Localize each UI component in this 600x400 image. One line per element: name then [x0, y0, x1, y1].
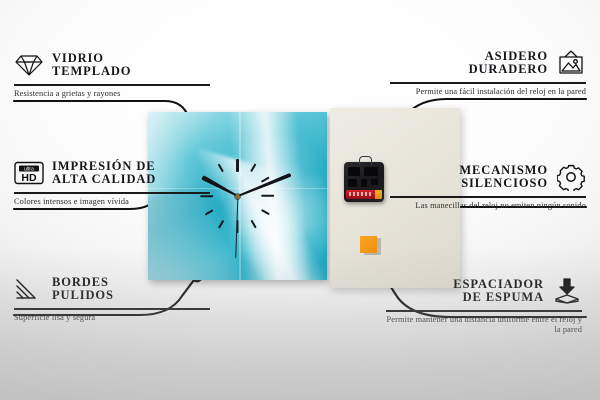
feature-description: Colores intensos e imagen vívida: [14, 197, 210, 207]
infographic-canvas: VIDRIO TEMPLADO Resistencia a grietas y …: [0, 0, 600, 400]
feature-title-line1: IMPRESIÓN DE: [52, 159, 156, 173]
foam-spacer: [360, 236, 377, 253]
polished-edges-icon: [14, 274, 44, 304]
gear-icon: [556, 162, 586, 192]
feature-bordes-pulidos: BORDES PULIDOS Superficie lisa y segura: [14, 274, 210, 323]
feature-divider: [390, 82, 586, 84]
feature-divider: [14, 308, 210, 310]
feature-title: ESPACIADOR DE ESPUMA: [453, 278, 544, 305]
feature-espaciador-de-espuma: ESPACIADOR DE ESPUMA Permite mantener un…: [386, 276, 582, 335]
feature-title-line2: DE ESPUMA: [453, 291, 544, 305]
battery: [346, 190, 382, 199]
diamond-icon: [14, 50, 44, 80]
feature-title: ASIDERO DURADERO: [469, 50, 548, 77]
feature-divider: [386, 310, 582, 312]
feature-title-line1: ASIDERO: [485, 49, 548, 63]
feature-title-line2: DURADERO: [469, 63, 548, 77]
feature-divider: [14, 192, 210, 194]
feature-description: Las manecillas del reloj no emiten ningú…: [390, 201, 586, 211]
quartz-movement: [344, 162, 384, 202]
feature-title-line2: PULIDOS: [52, 289, 114, 303]
feature-description: Resistencia a grietas y rayones: [14, 89, 210, 99]
ultra-hd-icon: ultra HD: [14, 158, 44, 188]
svg-text:HD: HD: [21, 172, 37, 184]
feature-title-line1: VIDRIO: [52, 51, 104, 65]
feature-title-line2: TEMPLADO: [52, 65, 131, 79]
feature-title-line2: ALTA CALIDAD: [52, 173, 156, 187]
feature-mecanismo-silencioso: MECANISMO SILENCIOSO Las manecillas del …: [390, 162, 586, 211]
feature-title: MECANISMO SILENCIOSO: [459, 164, 548, 191]
feature-title-line2: SILENCIOSO: [459, 177, 548, 191]
feature-title-line1: ESPACIADOR: [453, 277, 544, 291]
feature-title: BORDES PULIDOS: [52, 276, 114, 303]
clock-center-pivot: [235, 194, 240, 199]
feature-description: Permite una fácil instalación del reloj …: [390, 87, 586, 97]
feature-divider: [14, 84, 210, 86]
feature-description: Permite mantener una distancia uniforme …: [386, 315, 582, 336]
feature-title-line1: MECANISMO: [459, 163, 548, 177]
feature-vidrio-templado: VIDRIO TEMPLADO Resistencia a grietas y …: [14, 50, 210, 99]
feature-description: Superficie lisa y segura: [14, 313, 210, 323]
foam-spacer-arrow-icon: [552, 276, 582, 306]
hanger-hook-icon: [359, 156, 372, 165]
feature-asidero-duradero: ASIDERO DURADERO Permite una fácil insta…: [390, 48, 586, 97]
feature-divider: [390, 196, 586, 198]
feature-impresion-alta-calidad: ultra HD IMPRESIÓN DE ALTA CALIDAD Color…: [14, 158, 210, 207]
feature-title-line1: BORDES: [52, 275, 109, 289]
feature-title: IMPRESIÓN DE ALTA CALIDAD: [52, 160, 156, 187]
hanging-frame-icon: [556, 48, 586, 78]
feature-title: VIDRIO TEMPLADO: [52, 52, 131, 79]
